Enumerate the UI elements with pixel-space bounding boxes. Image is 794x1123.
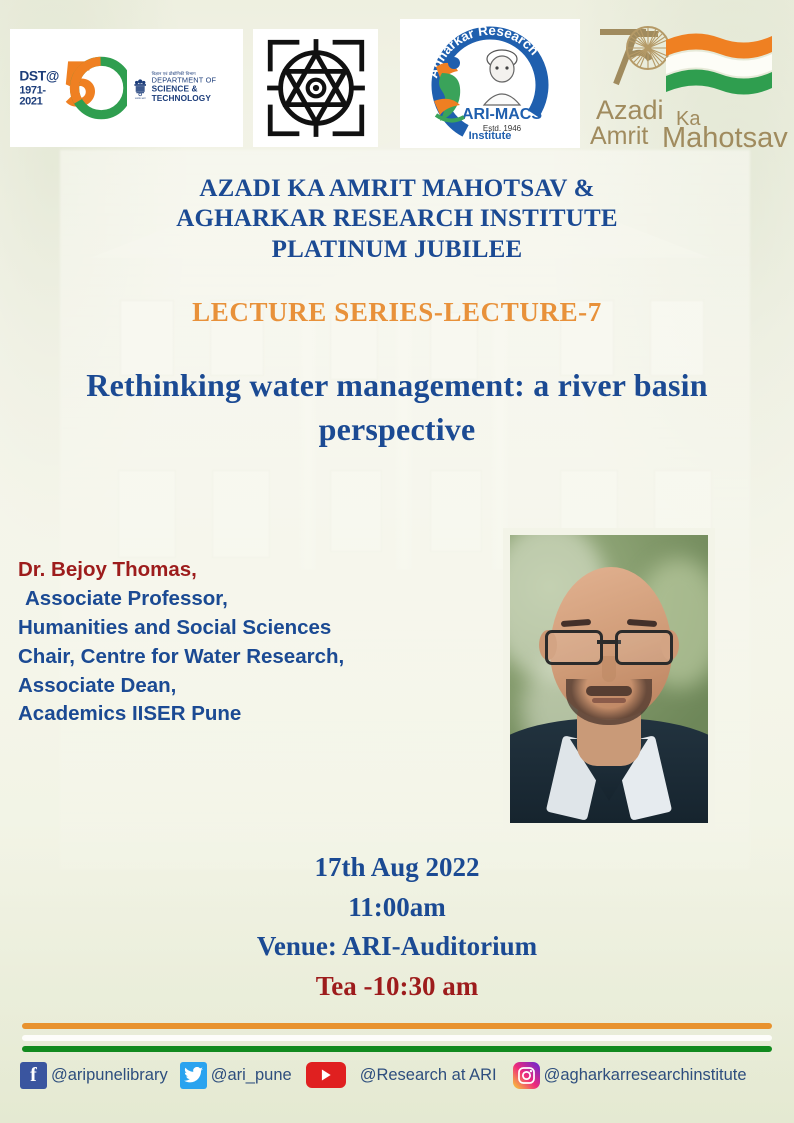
speaker-photo [510, 535, 708, 823]
social-instagram[interactable]: @agharkarresearchinstitute [513, 1062, 747, 1089]
talk-title: Rethinking water management: a river bas… [30, 364, 764, 451]
event-tea: Tea -10:30 am [0, 967, 794, 1007]
speaker-name: Dr. Bejoy Thomas, [18, 556, 498, 585]
ari-macs-icon: Agharkar Research Institute ARI-MACS Est… [406, 23, 574, 145]
event-venue: Venue: ARI-Auditorium [0, 927, 794, 967]
yantra-logo [253, 29, 378, 147]
eyeglasses-icon [545, 630, 673, 660]
speaker-line-1: Associate Professor, [18, 585, 498, 614]
lecture-series-label: LECTURE SERIES-LECTURE-7 [0, 297, 794, 328]
tricolor-bar-white [22, 1035, 772, 1041]
speaker-line-5: Academics IISER Pune [18, 700, 498, 729]
social-twitter[interactable]: @ari_pune [180, 1062, 292, 1089]
speaker-photo-frame [503, 528, 715, 830]
twitter-icon[interactable] [180, 1062, 207, 1089]
tricolor-bar-saffron [22, 1023, 772, 1029]
svg-text:Amrit: Amrit [590, 122, 648, 150]
event-time: 11:00am [0, 888, 794, 928]
azadi-logo-icon: Azadi Ka Amrit Mahotsav [588, 22, 792, 150]
speaker-line-3: Chair, Centre for Water Research, [18, 643, 498, 672]
event-date: 17th Aug 2022 [0, 848, 794, 888]
facebook-icon[interactable]: f [20, 1062, 47, 1089]
instagram-icon[interactable] [513, 1062, 540, 1089]
ari-macs-logo: Agharkar Research Institute ARI-MACS Est… [400, 19, 580, 148]
social-facebook[interactable]: f @aripunelibrary [20, 1062, 168, 1089]
poster-heading: AZADI KA AMRIT MAHOTSAV & AGHARKAR RESEA… [0, 174, 794, 265]
ashoka-emblem-icon: सत्यमेव जयते [133, 72, 148, 103]
heading-line-3: PLATINUM JUBILEE [0, 235, 794, 265]
youtube-handle[interactable]: @Research at ARI [360, 1066, 497, 1085]
ari-macs-established: Estd. 1946 [483, 124, 522, 133]
yantra-icon [264, 36, 368, 140]
event-details: 17th Aug 2022 11:00am Venue: ARI-Auditor… [0, 848, 794, 1007]
lecture-poster: DST@ 1971-2021 [0, 0, 794, 1123]
dst-50-logo: DST@ 1971-2021 [10, 29, 243, 147]
azadi-ka-amrit-mahotsav-logo: Azadi Ka Amrit Mahotsav [588, 22, 792, 150]
social-youtube[interactable]: @Research at ARI [306, 1062, 497, 1088]
logo-row: DST@ 1971-2021 [0, 0, 794, 160]
heading-line-1: AZADI KA AMRIT MAHOTSAV & [0, 174, 794, 204]
facebook-handle[interactable]: @aripunelibrary [51, 1066, 168, 1085]
ari-macs-acronym: ARI-MACS [462, 106, 542, 123]
social-bar: f @aripunelibrary @ari_pune @Research at… [20, 1057, 786, 1093]
speaker-details: Dr. Bejoy Thomas, Associate Professor, H… [18, 556, 498, 729]
speaker-line-2: Humanities and Social Sciences [18, 614, 498, 643]
dst-years: 1971-2021 [19, 84, 59, 106]
speaker-line-4: Associate Dean, [18, 672, 498, 701]
dst-50-numeral-icon [57, 54, 127, 122]
youtube-icon[interactable] [306, 1062, 346, 1088]
svg-text:Azadi: Azadi [596, 95, 664, 125]
instagram-handle[interactable]: @agharkarresearchinstitute [544, 1066, 747, 1085]
heading-line-2: AGHARKAR RESEARCH INSTITUTE [0, 204, 794, 234]
dst-dept-line2: SCIENCE & TECHNOLOGY [152, 85, 234, 103]
svg-text:Mahotsav: Mahotsav [662, 122, 788, 150]
svg-text:सत्यमेव जयते: सत्यमेव जयते [135, 97, 146, 100]
dst-wordmark: DST@ [19, 70, 59, 84]
twitter-handle[interactable]: @ari_pune [211, 1066, 292, 1085]
tricolor-bar-green [22, 1046, 772, 1052]
